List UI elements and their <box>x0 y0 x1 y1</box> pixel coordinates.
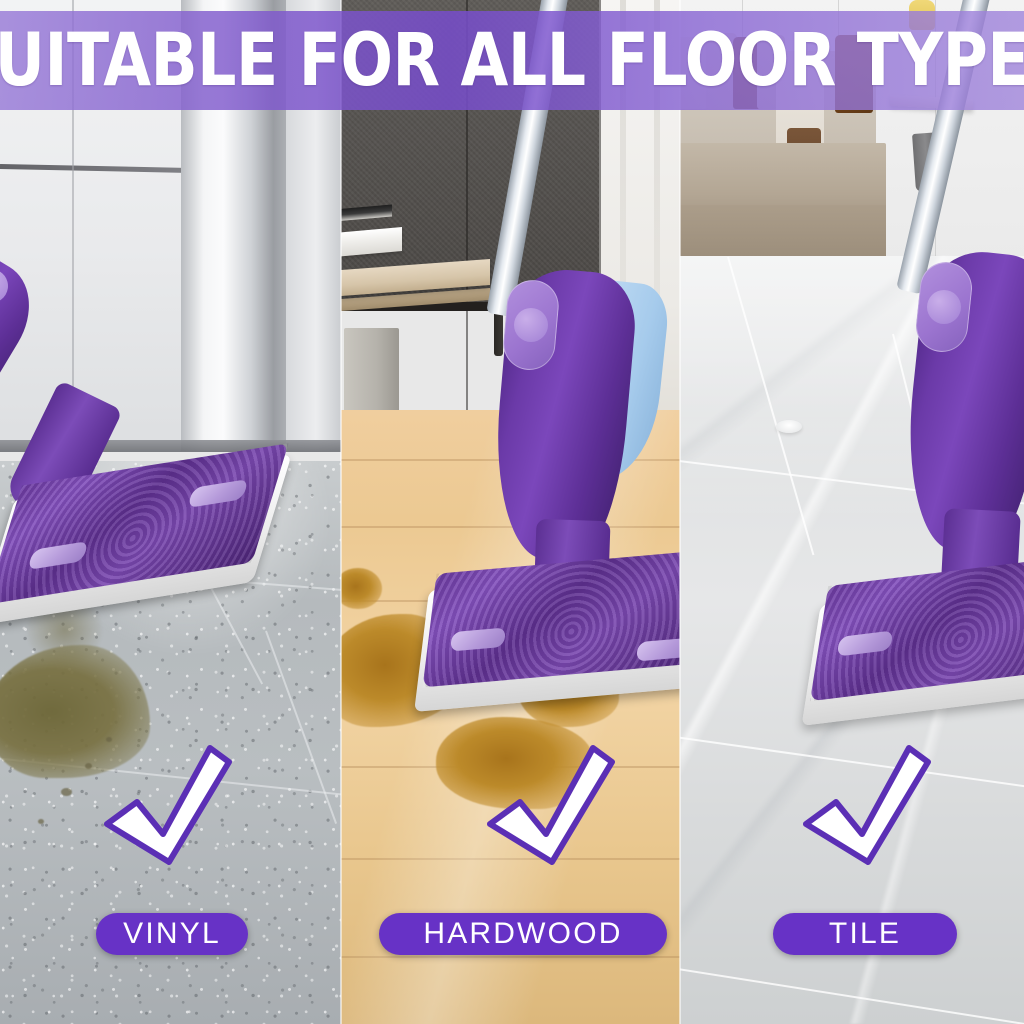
mop-head <box>423 549 680 688</box>
panel-row: VINYL <box>0 0 1024 1024</box>
header-banner: SUITABLE FOR ALL FLOOR TYPES <box>0 11 1024 110</box>
mop-trigger-dot[interactable] <box>514 308 548 342</box>
panel-vinyl[interactable]: VINYL <box>0 0 341 1024</box>
label-pill-hardwood[interactable]: HARDWOOD <box>379 913 667 955</box>
panel-divider-1 <box>340 0 342 1024</box>
vinyl-droplet <box>38 819 44 824</box>
label-pill-tile[interactable]: TILE <box>773 913 957 955</box>
checkmark-icon-tile <box>802 742 932 866</box>
mop-trigger-dot[interactable] <box>927 290 961 324</box>
checkmark-icon-vinyl <box>103 742 233 866</box>
mop-head-ridges <box>423 549 680 688</box>
tile-floor-object <box>776 420 802 433</box>
checkmark-icon-hardwood <box>486 742 616 866</box>
label-pill-tile-text: TILE <box>829 917 901 951</box>
infographic-canvas: VINYL <box>0 0 1024 1024</box>
label-pill-vinyl[interactable]: VINYL <box>96 913 248 955</box>
label-pill-hardwood-text: HARDWOOD <box>423 917 622 951</box>
mop-vinyl[interactable] <box>0 230 340 650</box>
page-title: SUITABLE FOR ALL FLOOR TYPES <box>0 24 1024 97</box>
mop-head <box>810 551 1024 701</box>
panel-hardwood[interactable]: HARDWOOD <box>341 0 680 1024</box>
panel-tile[interactable]: TILE <box>680 0 1024 1024</box>
panel-divider-2 <box>679 0 681 1024</box>
label-pill-vinyl-text: VINYL <box>123 917 221 951</box>
mop-head-ridges <box>810 551 1024 701</box>
